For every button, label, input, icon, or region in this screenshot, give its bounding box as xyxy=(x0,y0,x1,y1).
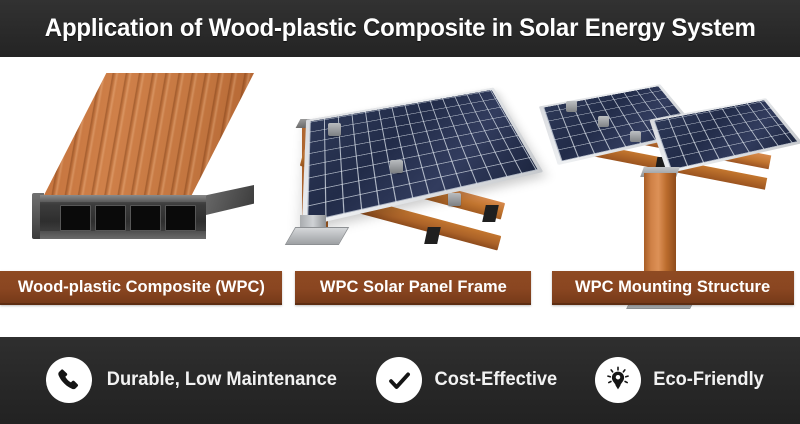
feature-durable-low-maintenance: Durable, Low Maintenance xyxy=(46,357,342,403)
main-content-area: Wood-plastic Composite (WPC) WPC Solar P… xyxy=(0,57,800,337)
wpc-mounting-structure-illustration xyxy=(538,61,794,266)
page-title: Application of Wood-plastic Composite in… xyxy=(45,14,756,43)
phone-icon xyxy=(46,357,92,403)
check-icon xyxy=(376,357,422,403)
feature-label: Eco-Friendly xyxy=(653,369,763,391)
caption-label-wpc-board: Wood-plastic Composite (WPC) xyxy=(0,271,282,305)
solar-panel xyxy=(302,88,544,228)
product-panel-wpc-board xyxy=(8,57,280,269)
panel-clamp xyxy=(328,123,341,136)
feature-cost-effective: Cost-Effective xyxy=(376,357,560,403)
product-panel-mounting-structure xyxy=(530,57,798,269)
footer-feature-band: Durable, Low Maintenance Cost-Effective xyxy=(0,337,800,424)
panel-clamp xyxy=(630,131,641,142)
product-panel-solar-frame xyxy=(272,57,534,269)
header-band: Application of Wood-plastic Composite in… xyxy=(0,0,800,57)
panel-clamp xyxy=(390,160,403,173)
panel-clamp xyxy=(448,193,461,206)
caption-label-solar-frame: WPC Solar Panel Frame xyxy=(295,271,531,305)
feature-eco-friendly: Eco-Friendly xyxy=(595,357,766,403)
board-hollow-chamber xyxy=(95,205,126,231)
board-hollow-chamber xyxy=(165,205,196,231)
feature-label: Durable, Low Maintenance xyxy=(107,369,337,391)
board-hollow-chamber xyxy=(130,205,161,231)
feature-label: Cost-Effective xyxy=(435,369,558,391)
infographic-page: Application of Wood-plastic Composite in… xyxy=(0,0,800,424)
caption-text: WPC Solar Panel Frame xyxy=(320,277,507,297)
wpc-decking-board-illustration xyxy=(28,71,268,256)
board-cut-end-face xyxy=(40,195,206,239)
caption-label-mounting-structure: WPC Mounting Structure xyxy=(552,271,794,305)
caption-text: Wood-plastic Composite (WPC) xyxy=(17,277,264,297)
frame-foot-block xyxy=(482,205,499,222)
board-hollow-chamber xyxy=(60,205,91,231)
caption-text: WPC Mounting Structure xyxy=(575,277,770,297)
frame-foot-block xyxy=(424,227,441,244)
board-grooves xyxy=(40,73,254,203)
panel-clamp xyxy=(566,101,577,112)
wpc-solar-panel-frame-illustration xyxy=(280,67,530,262)
panel-clamp xyxy=(598,116,609,127)
lightbulb-icon xyxy=(595,357,641,403)
post-base-plate xyxy=(285,227,349,245)
board-side-face xyxy=(206,185,254,215)
